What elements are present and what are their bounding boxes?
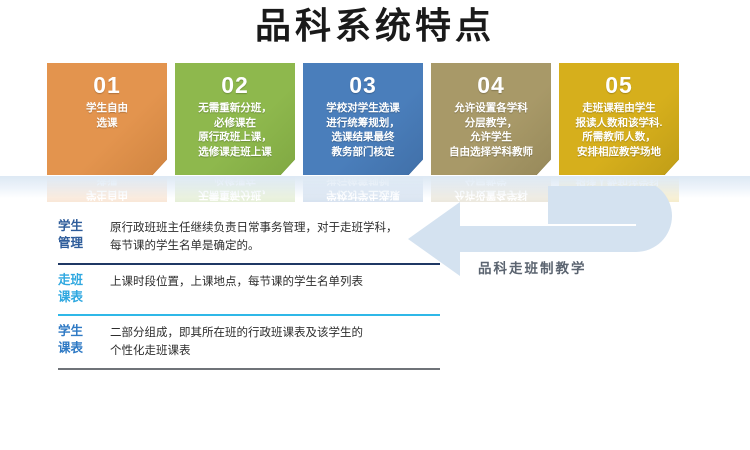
feature-card-05-wrapper: 05 走班课程由学生 报读人数和该学科. 所需教师人数， 安排相应教学场地 走班…: [559, 63, 679, 175]
card-number-02: 02: [175, 72, 295, 98]
card-fold-04: [536, 159, 551, 175]
detail-list: 学生 管理 原行政班班主任继续负责日常事务管理，对于走班学科， 每节课的学生名单…: [58, 211, 440, 370]
list-item-label-3: 学生 课表: [58, 323, 110, 357]
card-text-03: 学校对学生选课 进行统筹规划， 选课结果最终 教务部门核定: [303, 101, 423, 159]
feature-card-02-wrapper: 02 无需重新分班， 必修课在 原行政班上课， 选修课走班上课 无需重新分班， …: [175, 63, 295, 175]
list-item-label-1: 学生 管理: [58, 218, 110, 252]
feature-card-03[interactable]: 03 学校对学生选课 进行统筹规划， 选课结果最终 教务部门核定: [303, 63, 423, 175]
feature-card-row: 01 学生自由 选课 学生自由 选课 02 无需重新分班， 必修课在 原行政班上…: [47, 63, 703, 175]
feature-card-01[interactable]: 01 学生自由 选课: [47, 63, 167, 175]
feature-card-02[interactable]: 02 无需重新分班， 必修课在 原行政班上课， 选修课走班上课: [175, 63, 295, 175]
card-text-02: 无需重新分班， 必修课在 原行政班上课， 选修课走班上课: [175, 101, 295, 159]
feature-card-03-wrapper: 03 学校对学生选课 进行统筹规划， 选课结果最终 教务部门核定 学校对学生选课…: [303, 63, 423, 175]
card-fold-02: [280, 159, 295, 175]
card-text-01: 学生自由 选课: [47, 101, 167, 130]
card-number-04: 04: [431, 72, 551, 98]
list-item[interactable]: 学生 课表 二部分组成，即其所在班的行政班课表及该学生的 个性化走班课表: [58, 316, 440, 368]
list-item-label-2: 走班 课表: [58, 272, 110, 306]
card-fold-01: [152, 159, 167, 175]
arrow-label: 品科走班制教学: [478, 257, 587, 277]
list-item-body-3: 二部分组成，即其所在班的行政班课表及该学生的 个性化走班课表: [110, 323, 440, 360]
card-text-04: 允许设置各学科 分层教学， 允许学生 自由选择学科教师: [431, 101, 551, 159]
card-number-03: 03: [303, 72, 423, 98]
page-title: 品科系统特点: [0, 2, 750, 50]
list-item-body-1: 原行政班班主任继续负责日常事务管理，对于走班学科， 每节课的学生名单是确定的。: [110, 218, 440, 255]
list-item[interactable]: 走班 课表 上课时段位置，上课地点，每节课的学生名单列表: [58, 265, 440, 314]
list-item[interactable]: 学生 管理 原行政班班主任继续负责日常事务管理，对于走班学科， 每节课的学生名单…: [58, 211, 440, 263]
card-fold-05: [664, 159, 679, 175]
feature-card-04-wrapper: 04 允许设置各学科 分层教学， 允许学生 自由选择学科教师 允许设置各学科 分…: [431, 63, 551, 175]
card-text-05: 走班课程由学生 报读人数和该学科. 所需教师人数， 安排相应教学场地: [559, 101, 679, 159]
feature-card-01-wrapper: 01 学生自由 选课 学生自由 选课: [47, 63, 167, 175]
feature-card-05[interactable]: 05 走班课程由学生 报读人数和该学科. 所需教师人数， 安排相应教学场地: [559, 63, 679, 175]
card-reflection-01: 学生自由 选课: [47, 176, 167, 202]
list-item-body-2: 上课时段位置，上课地点，每节课的学生名单列表: [110, 272, 440, 291]
list-divider-3: [58, 368, 440, 370]
card-fold-03: [408, 159, 423, 175]
card-reflection-02: 无需重新分班， 必修课在 原行政班上课， 选修课走班上课: [175, 176, 295, 202]
card-number-01: 01: [47, 72, 167, 98]
feature-card-04[interactable]: 04 允许设置各学科 分层教学， 允许学生 自由选择学科教师: [431, 63, 551, 175]
card-number-05: 05: [559, 72, 679, 98]
